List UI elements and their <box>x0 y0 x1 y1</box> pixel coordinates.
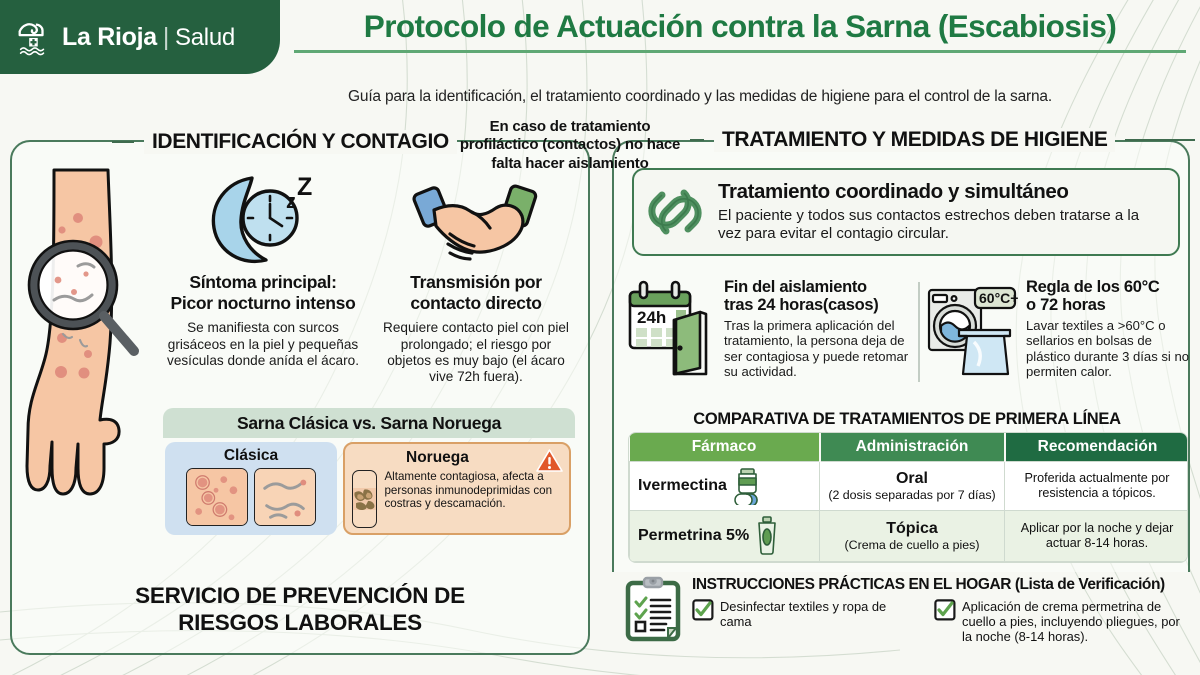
symptom-title: Síntoma principal: Picor nocturno intens… <box>163 272 363 313</box>
heading-dash-left <box>112 141 134 143</box>
admin-main: Oral <box>824 470 1000 488</box>
washing-machine-bag-icon: 60°C+ <box>926 278 1018 378</box>
footer-line-2: RIESGOS LABORALES <box>178 610 422 635</box>
comparison-title: Sarna Clásica vs. Sarna Noruega <box>163 408 575 438</box>
arm-with-magnifier-icon <box>18 168 183 498</box>
clipboard-checklist-icon <box>624 576 682 642</box>
home-instructions-checklist: INSTRUCCIONES PRÁCTICAS EN EL HOGAR (Lis… <box>624 576 1192 644</box>
heading-dash-right <box>1125 139 1195 141</box>
cell-administration: Oral (2 dosis separadas por 7 días) <box>820 462 1005 511</box>
isolation-title-line1: Fin del aislamiento <box>724 278 867 296</box>
moon-clock-sleep-icon: z Z <box>200 168 320 268</box>
cell-drug: Permetrina 5% <box>630 511 820 562</box>
identification-panel-heading: IDENTIFICACIÓN Y CONTAGIO <box>112 130 457 154</box>
checkbox-checked-icon[interactable] <box>692 599 714 621</box>
isolation-body: Tras la primera aplicación del tratamien… <box>724 318 914 379</box>
chain-link-icon <box>644 181 706 243</box>
admin-sub: (Crema de cuello a pies) <box>824 538 1000 552</box>
temperature-body: Lavar textiles a >60°C o sellarios en bo… <box>1026 318 1192 379</box>
svg-text:Z: Z <box>297 173 312 201</box>
admin-sub: (2 dosis separadas por 7 días) <box>824 488 1000 502</box>
cell-recommendation: Proferida actualmente por resistencia a … <box>1005 462 1189 511</box>
table-header-row: Fármaco Administración Recomendación <box>630 433 1189 462</box>
heading-dash-left <box>690 139 704 141</box>
temperature-title-line1: Regla de los 60°C <box>1026 278 1160 296</box>
calendar-door-24h-icon: 24h <box>624 278 716 378</box>
drug-name-ivermectina: Ivermectina <box>638 477 727 495</box>
svg-text:z: z <box>286 191 296 213</box>
classic-label: Clásica <box>172 447 330 465</box>
checkbox-checked-icon[interactable] <box>934 599 956 621</box>
footer-line-1: SERVICIO DE PREVENCIÓN DE <box>135 583 465 608</box>
transmission-title-line2: contacto directo <box>410 293 541 313</box>
warning-triangle-icon <box>536 448 563 473</box>
transmission-body: Requiere contacto piel con piel prolonga… <box>378 320 574 385</box>
page-title: Protocolo de Actuación contra la Sarna (… <box>290 8 1190 44</box>
checklist-title: INSTRUCCIONES PRÁCTICAS EN EL HOGAR (Lis… <box>692 576 1182 594</box>
calendar-24h-label: 24h <box>637 308 666 327</box>
skin-burrows-icon <box>254 468 316 526</box>
cell-recommendation: Aplicar por la noche y dejar actuar 8-14… <box>1005 511 1189 562</box>
transmission-title-line1: Transmisión por <box>410 272 542 292</box>
symptom-block: Síntoma principal: Picor nocturno intens… <box>163 272 363 369</box>
norway-description: Altamente contagiosa, afecta a personas … <box>384 470 562 511</box>
table-row: Permetrina 5% Tópica (Crema de cuello a … <box>630 511 1189 562</box>
table-row: Ivermectina <box>630 462 1189 511</box>
la-rioja-emblem-icon <box>14 18 52 56</box>
treatment-comparison-table: Fármaco Administración Recomendación Ive… <box>628 432 1188 563</box>
temperature-title: Regla de los 60°C o 72 horas <box>1026 278 1192 315</box>
cream-tube-icon <box>754 516 780 556</box>
info-divider <box>918 282 920 382</box>
drug-name-permetrina: Permetrina 5% <box>638 527 749 545</box>
checklist-item-text: Desinfectar textiles y ropa de cama <box>720 599 920 629</box>
norway-label: Noruega <box>352 449 562 467</box>
isolation-24h-block: 24h Fin del aislamiento tras 24 horas(ca… <box>624 278 914 379</box>
isolation-title-line2: tras 24 horas(casos) <box>724 296 879 314</box>
handshake-icon <box>410 174 540 270</box>
pill-bottle-capsule-icon <box>732 467 766 505</box>
prophylaxis-note: En caso de tratamiento profiláctico (con… <box>455 118 685 173</box>
norwegian-scabies-card: Noruega <box>343 442 571 535</box>
transmission-title: Transmisión por contacto directo <box>378 272 574 313</box>
admin-main: Tópica <box>824 520 1000 538</box>
title-block: Protocolo de Actuación contra la Sarna (… <box>290 8 1190 53</box>
classic-scabies-card: Clásica <box>165 442 337 535</box>
coordinated-treatment-card: Tratamiento coordinado y simultáneo El p… <box>632 168 1180 256</box>
prevention-service-footer: SERVICIO DE PREVENCIÓN DE RIESGOS LABORA… <box>30 582 570 637</box>
symptom-body: Se manifiesta con surcos grisáceos en la… <box>163 320 363 369</box>
brand-subname: Salud <box>175 24 235 52</box>
isolation-title: Fin del aislamiento tras 24 horas(casos) <box>724 278 914 315</box>
table-col-administracion: Administración <box>820 433 1005 462</box>
title-divider <box>294 50 1186 53</box>
skin-crusted-icon <box>352 470 377 528</box>
symptom-title-line2: Picor nocturno intenso <box>171 293 356 313</box>
scabies-comparison-box: Sarna Clásica vs. Sarna Noruega Clásica <box>163 408 575 556</box>
temperature-rule-block: 60°C+ Regla de los 60°C o 72 horas Lavar… <box>926 278 1192 379</box>
identification-heading-label: IDENTIFICACIÓN Y CONTAGIO <box>144 130 457 154</box>
brand-name: La Rioja <box>62 23 157 52</box>
treatment-panel-heading: TRATAMIENTO Y MEDIDAS DE HIGIENE <box>690 128 1195 152</box>
symptom-title-line1: Síntoma principal: <box>189 272 336 292</box>
list-item[interactable]: Desinfectar textiles y ropa de cama <box>692 599 920 644</box>
table-col-recomendacion: Recomendación <box>1005 433 1189 462</box>
table-col-farmaco: Fármaco <box>630 433 820 462</box>
page-header: La Rioja | Salud Protocolo de Actuación … <box>0 0 1200 78</box>
transmission-block: Transmisión por contacto directo Requier… <box>378 272 574 386</box>
brand-logo: La Rioja | Salud <box>0 0 280 74</box>
cell-drug: Ivermectina <box>630 462 820 511</box>
treatment-heading-label: TRATAMIENTO Y MEDIDAS DE HIGIENE <box>714 128 1115 152</box>
list-item[interactable]: Aplicación de crema permetrina de cuello… <box>934 599 1182 644</box>
cell-administration: Tópica (Crema de cuello a pies) <box>820 511 1005 562</box>
checklist-item-text: Aplicación de crema permetrina de cuello… <box>962 599 1182 644</box>
coordinated-body: El paciente y todos sus contactos estrec… <box>718 207 1164 243</box>
treatment-table-title: COMPARATIVA DE TRATAMIENTOS DE PRIMERA L… <box>624 410 1190 429</box>
temperature-badge-label: 60°C+ <box>979 290 1018 306</box>
brand-logo-text: La Rioja | Salud <box>62 23 235 52</box>
skin-papules-icon <box>186 468 248 526</box>
temperature-title-line2: o 72 horas <box>1026 296 1106 314</box>
coordinated-title: Tratamiento coordinado y simultáneo <box>718 181 1164 204</box>
page-subtitle: Guía para la identificación, el tratamie… <box>220 88 1180 106</box>
brand-separator: | <box>163 23 169 52</box>
